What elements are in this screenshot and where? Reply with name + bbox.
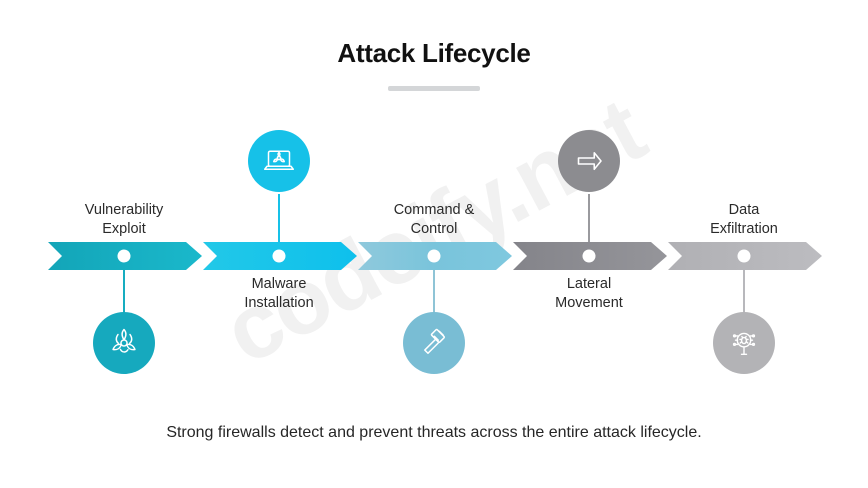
arrow-right-icon	[571, 143, 607, 179]
attack-lifecycle-diagram	[0, 0, 868, 488]
arrow-right-icon-circle[interactable]	[558, 130, 620, 192]
laptop-virus-icon	[261, 143, 297, 179]
milestone-dot-3	[428, 250, 441, 263]
laptop-virus-icon-circle[interactable]	[248, 130, 310, 192]
gavel-icon-circle[interactable]	[403, 312, 465, 374]
stage-label-4: Lateral Movement	[504, 275, 674, 313]
gavel-icon	[417, 326, 451, 360]
stage-label-2-line1: Malware	[194, 275, 364, 294]
stage-label-1-line2: Exploit	[39, 220, 209, 239]
stage-label-2: Malware Installation	[194, 275, 364, 313]
stage-label-3-line2: Control	[349, 220, 519, 239]
milestone-dot-4	[583, 250, 596, 263]
stage-label-3: Command & Control	[349, 201, 519, 239]
footer-caption: Strong firewalls detect and prevent thre…	[0, 424, 868, 442]
stage-label-4-line2: Movement	[504, 294, 674, 313]
stage-label-2-line2: Installation	[194, 294, 364, 313]
magnifier-bug-icon	[727, 326, 761, 360]
milestone-dot-5	[738, 250, 751, 263]
stage-label-5-line2: Exfiltration	[659, 220, 829, 239]
page-title: Attack Lifecycle	[0, 38, 868, 69]
magnifier-bug-icon-circle[interactable]	[713, 312, 775, 374]
milestone-dot-1	[118, 250, 131, 263]
stage-label-5-line1: Data	[659, 201, 829, 220]
stage-label-1-line1: Vulnerability	[39, 201, 209, 220]
title-divider	[388, 86, 480, 91]
stage-label-4-line1: Lateral	[504, 275, 674, 294]
stage-label-1: Vulnerability Exploit	[39, 201, 209, 239]
stage-label-3-line1: Command &	[349, 201, 519, 220]
infographic-canvas: codeify.net Attack Lifecycle	[0, 0, 868, 488]
biohazard-icon-circle[interactable]	[93, 312, 155, 374]
stage-label-5: Data Exfiltration	[659, 201, 829, 239]
milestone-dot-2	[273, 250, 286, 263]
biohazard-icon	[107, 326, 141, 360]
